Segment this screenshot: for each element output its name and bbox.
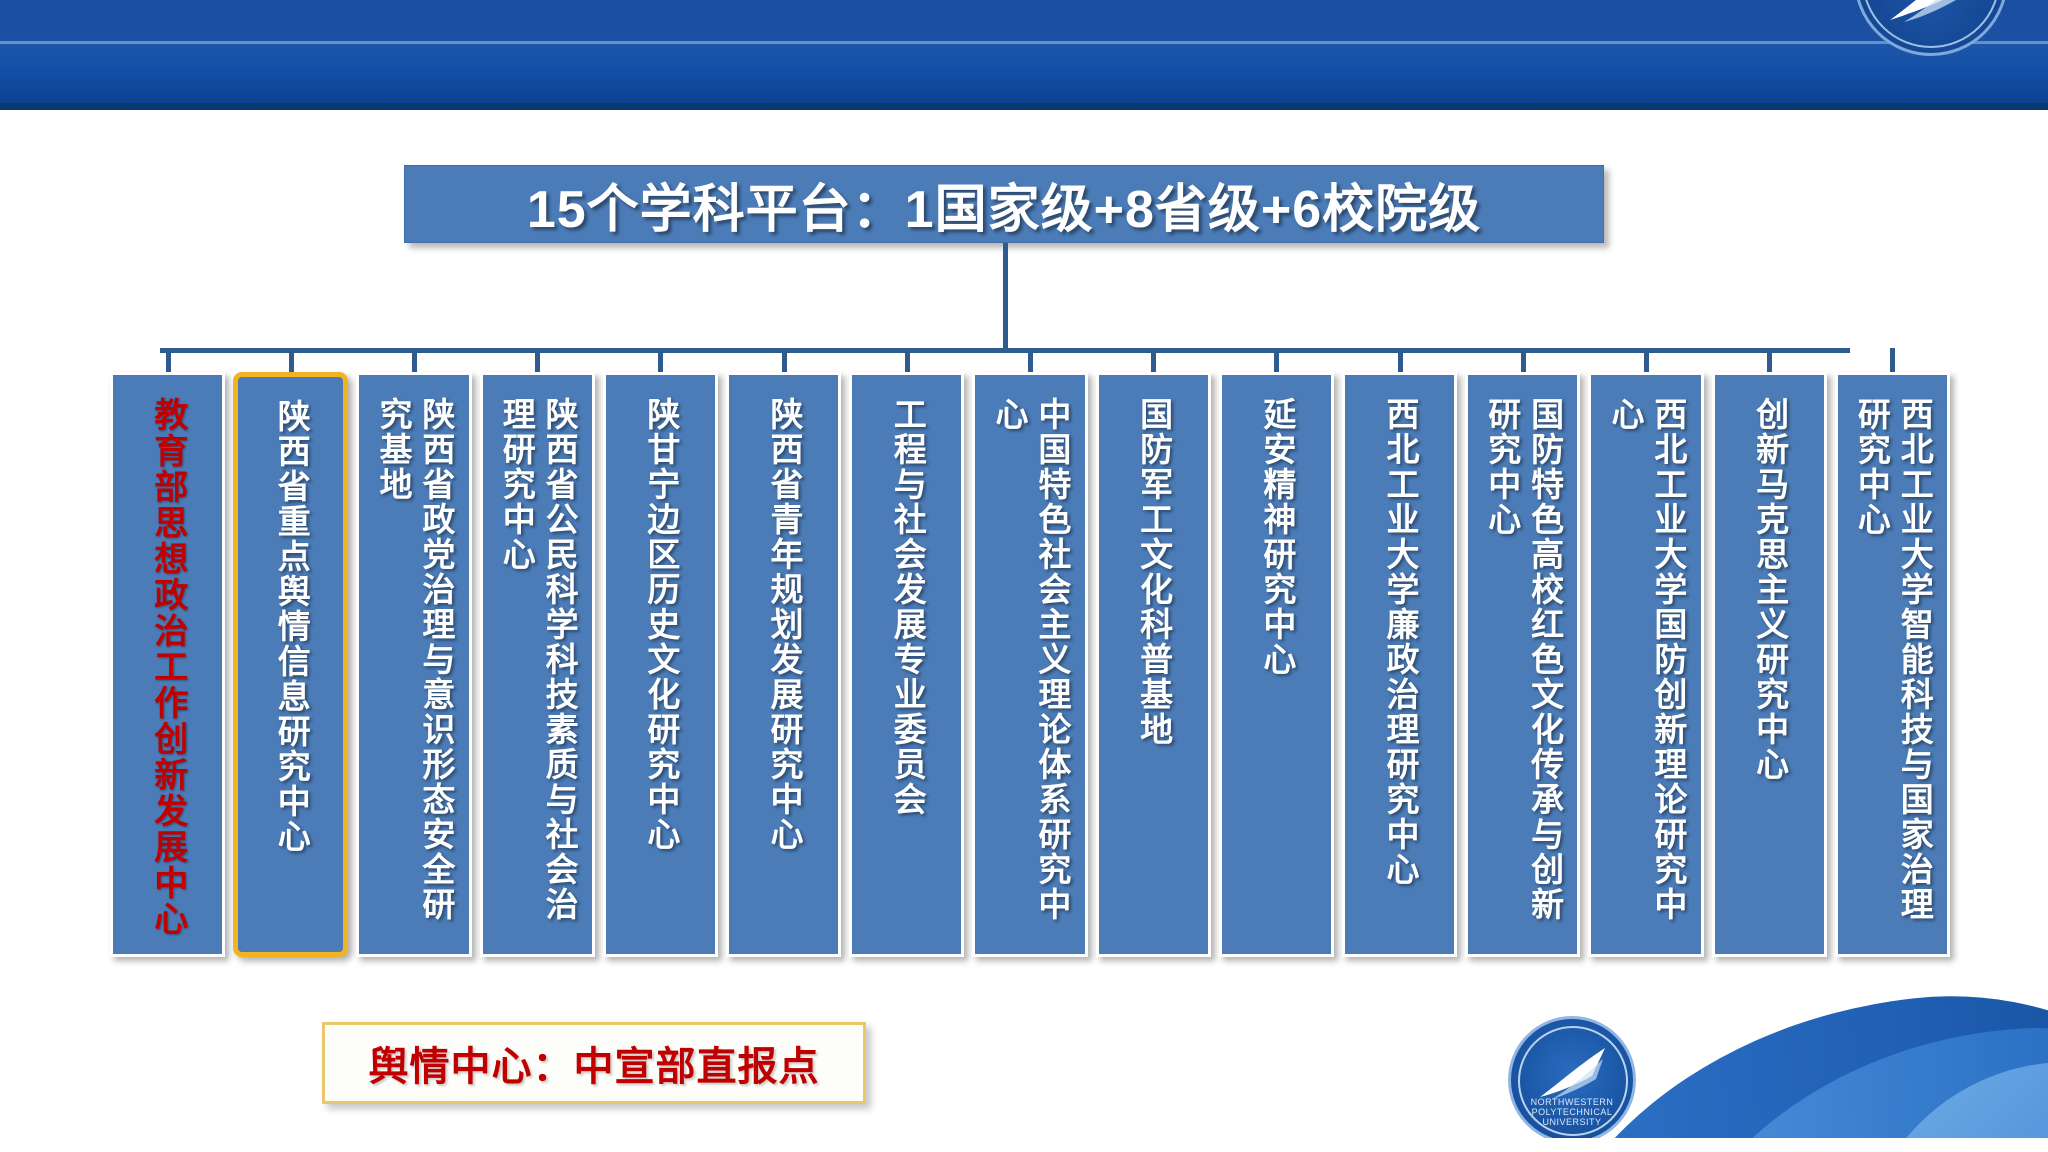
platform-box-13[interactable]: 西北工业大学国防创新理论研究中心 [1588, 372, 1703, 957]
platform-label: 西北工业大学国防创新理论研究中心 [1603, 397, 1689, 945]
platform-label: 延安精神研究中心 [1255, 397, 1298, 945]
platform-box-9[interactable]: 国防军工文化科普基地 [1096, 372, 1211, 957]
footer-white-strip [0, 1138, 2048, 1152]
platform-box-10[interactable]: 延安精神研究中心 [1219, 372, 1334, 957]
seal-caption: NORTHWESTERN POLYTECHNICAL UNIVERSITY [1511, 1097, 1633, 1127]
platform-label: 中国特色社会主义理论体系研究中心 [987, 397, 1073, 945]
platform-label: 陕甘宁边区历史文化研究中心 [639, 397, 682, 945]
platform-label: 西北工业大学廉政治理研究中心 [1378, 397, 1421, 945]
platform-label: 工程与社会发展专业委员会 [885, 397, 928, 945]
caption-text: 舆情中心：中宣部直报点 [369, 1034, 820, 1092]
header-band [0, 0, 2048, 110]
platform-box-11[interactable]: 西北工业大学廉政治理研究中心 [1342, 372, 1457, 957]
header-band-sheen [0, 0, 2048, 42]
seal-inner-ring [1518, 1026, 1628, 1136]
header-band-hairline [0, 41, 2048, 44]
caption-box: 舆情中心：中宣部直报点 [322, 1022, 866, 1104]
footer-swoosh-mid [1630, 1015, 2048, 1152]
platform-label: 西北工业大学智能科技与国家治理研究中心 [1850, 397, 1936, 945]
platform-box-7[interactable]: 工程与社会发展专业委员会 [849, 372, 964, 957]
platform-label: 国防军工文化科普基地 [1132, 397, 1175, 945]
platform-box-4[interactable]: 陕西省公民科学科技素质与社会治理研究中心 [480, 372, 595, 957]
footer-decoration: NORTHWESTERN POLYTECHNICAL UNIVERSITY [1388, 952, 2048, 1152]
university-swoosh-icon [1886, 0, 1970, 26]
header-band-bottom-edge [0, 103, 2048, 110]
footer-swoosh-back [1493, 963, 2048, 1152]
platform-box-15[interactable]: 西北工业大学智能科技与国家治理研究中心 [1835, 372, 1950, 957]
university-seal-icon: NORTHWESTERN POLYTECHNICAL UNIVERSITY [1508, 1016, 1636, 1144]
connector-stem [1003, 243, 1008, 351]
page-title: 15个学科平台：1国家级+8省级+6校院级 [527, 167, 1481, 242]
platform-box-3[interactable]: 陕西省政党治理与意识形态安全研究基地 [356, 372, 471, 957]
platform-box-12[interactable]: 国防特色高校红色文化传承与创新研究中心 [1465, 372, 1580, 957]
platform-box-14[interactable]: 创新马克思主义研究中心 [1712, 372, 1827, 957]
header-logo [1748, 0, 2048, 118]
platform-box-8[interactable]: 中国特色社会主义理论体系研究中心 [972, 372, 1087, 957]
platform-label: 陕西省重点舆情信息研究中心 [269, 399, 312, 947]
platform-box-5[interactable]: 陕甘宁边区历史文化研究中心 [603, 372, 718, 957]
slide-canvas: 15个学科平台：1国家级+8省级+6校院级 教育部思想政治工作创新发展中心陕西省… [0, 0, 2048, 1152]
title-banner: 15个学科平台：1国家级+8省级+6校院级 [404, 165, 1604, 243]
platform-box-row: 教育部思想政治工作创新发展中心陕西省重点舆情信息研究中心陕西省政党治理与意识形态… [110, 372, 1950, 957]
platform-box-2[interactable]: 陕西省重点舆情信息研究中心 [233, 372, 348, 957]
platform-box-6[interactable]: 陕西省青年规划发展研究中心 [726, 372, 841, 957]
platform-label: 陕西省青年规划发展研究中心 [762, 397, 805, 945]
platform-label: 陕西省公民科学科技素质与社会治理研究中心 [494, 397, 580, 945]
platform-box-1[interactable]: 教育部思想政治工作创新发展中心 [110, 372, 225, 957]
platform-label: 创新马克思主义研究中心 [1748, 397, 1791, 945]
platform-label: 国防特色高校红色文化传承与创新研究中心 [1480, 397, 1566, 945]
platform-label: 教育部思想政治工作创新发展中心 [146, 397, 190, 945]
seal-swoosh-icon [1537, 1045, 1609, 1103]
platform-label: 陕西省政党治理与意识形态安全研究基地 [371, 397, 457, 945]
